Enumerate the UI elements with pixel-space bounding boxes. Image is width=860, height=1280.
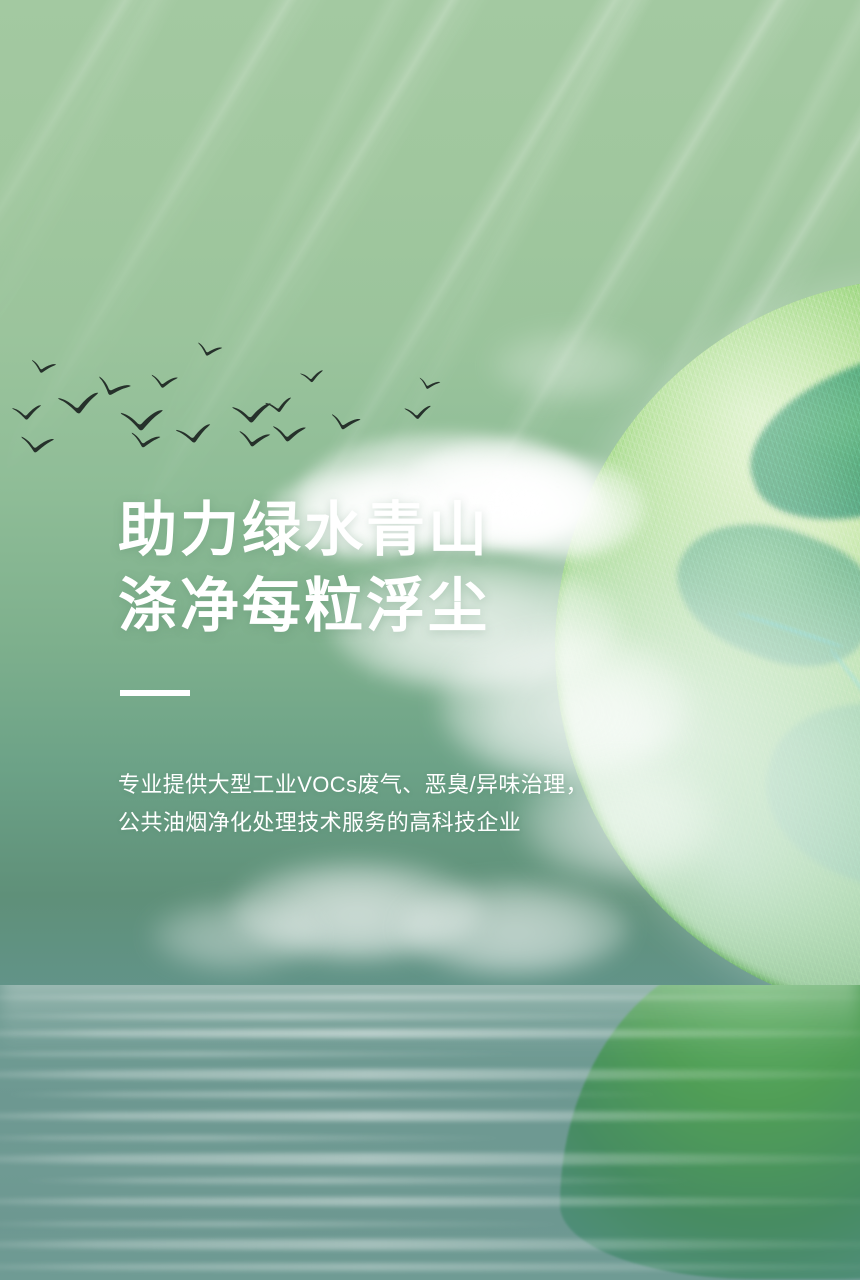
water-wave [0, 1069, 860, 1080]
water-wave [17, 1177, 705, 1184]
poster-hero: 助力绿水青山 涤净每粒浮尘 专业提供大型工业VOCs废气、恶臭/异味治理， 公共… [0, 0, 860, 1280]
water-wave [0, 1091, 671, 1098]
page-title-line-2: 涤净每粒浮尘 [118, 568, 490, 644]
page-title-line-1: 助力绿水青山 [118, 492, 490, 568]
water-wave [0, 1153, 860, 1165]
water-wave [0, 1239, 860, 1250]
horizontal-rule-icon [120, 690, 190, 696]
water-wave [0, 1111, 860, 1121]
subtitle-line-1: 专业提供大型工业VOCs废气、恶臭/异味治理， [118, 766, 588, 804]
water-mist [0, 985, 860, 1057]
water-surface [0, 985, 860, 1280]
water-wave [0, 1197, 860, 1206]
water-wave [0, 1221, 576, 1227]
water-wave [0, 1135, 516, 1141]
water-wave [0, 1263, 860, 1271]
subtitle-line-2: 公共油烟净化处理技术服务的高科技企业 [118, 804, 521, 842]
